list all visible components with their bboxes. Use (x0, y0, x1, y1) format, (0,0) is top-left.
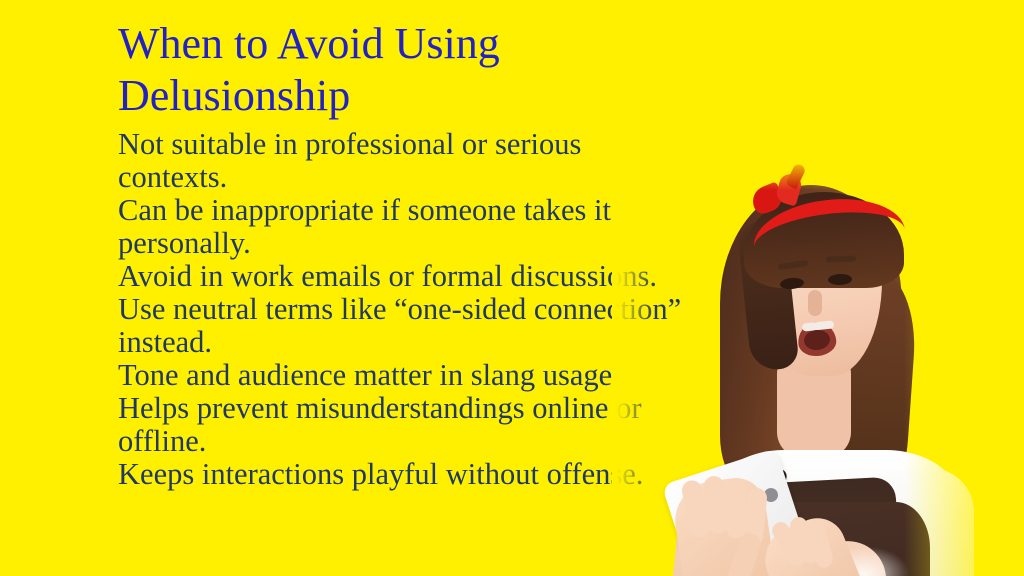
photo-edge-blend-right (904, 150, 1024, 576)
list-item: Not suitable in professional or serious … (118, 128, 688, 194)
photo-edge-blend-left (612, 150, 656, 576)
list-item: Use neutral terms like “one-sided connec… (118, 293, 688, 359)
photo-edge-blend-top (612, 150, 1024, 190)
bullet-list: Not suitable in professional or serious … (118, 128, 688, 491)
slide-text-column: When to Avoid Using Delusionship Not sui… (118, 18, 688, 491)
eyebrow-right (826, 255, 856, 262)
shocked-woman-with-phone-photo (612, 150, 1024, 576)
list-item: Tone and audience matter in slang usage. (118, 359, 688, 392)
slide-canvas: When to Avoid Using Delusionship Not sui… (0, 0, 1024, 576)
list-item: Can be inappropriate if someone takes it… (118, 194, 688, 260)
list-item: Helps prevent misunderstandings online o… (118, 392, 688, 458)
list-item: Keeps interactions playful without offen… (118, 458, 688, 491)
page-title: When to Avoid Using Delusionship (118, 18, 688, 122)
list-item: Avoid in work emails or formal discussio… (118, 260, 688, 293)
nose (808, 290, 822, 316)
